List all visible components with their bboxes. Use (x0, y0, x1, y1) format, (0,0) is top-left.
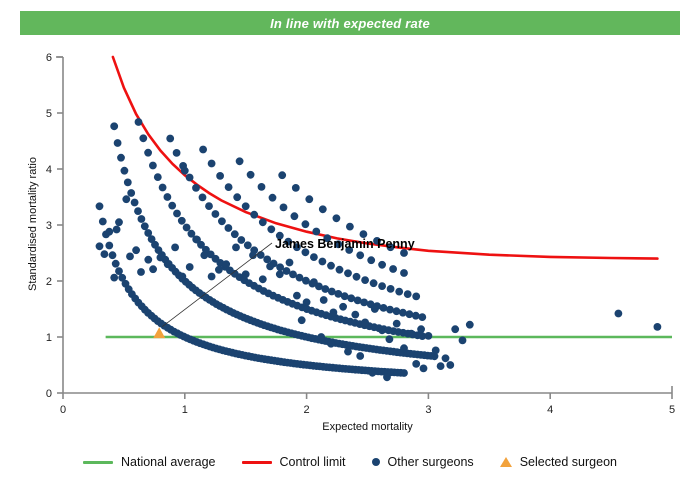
data-point (193, 236, 201, 244)
data-point (327, 340, 335, 348)
data-point (293, 292, 301, 300)
data-point (327, 262, 335, 270)
data-point (236, 157, 244, 165)
data-point (412, 312, 420, 320)
funnel-plot-chart: 0123456012345 Standardised mortality rat… (0, 0, 700, 500)
data-point (305, 195, 313, 203)
data-point (378, 261, 386, 269)
x-tick-label: 5 (669, 404, 675, 416)
data-point (200, 251, 208, 259)
data-point (212, 210, 220, 218)
data-point (181, 167, 189, 175)
legend-item-national-average[interactable]: National average (83, 455, 216, 469)
data-point (183, 224, 191, 232)
y-axis-title: Standardised mortality ratio (27, 134, 39, 314)
legend-item-selected-surgeon[interactable]: Selected surgeon (500, 455, 617, 469)
data-point (378, 326, 386, 334)
data-point (179, 273, 187, 281)
data-point (267, 225, 275, 233)
data-point (134, 207, 142, 215)
chart-page: In line with expected rate 0123456012345… (0, 0, 700, 500)
data-point (351, 311, 359, 319)
chart-legend: National averageControl limitOther surge… (0, 455, 700, 469)
data-point (386, 335, 394, 343)
data-point (166, 135, 174, 143)
legend-item-other-surgeons[interactable]: Other surgeons (372, 455, 474, 469)
data-point (378, 282, 386, 290)
data-point (121, 167, 129, 175)
data-point (233, 193, 241, 201)
data-point (380, 304, 388, 312)
data-point (361, 276, 369, 284)
legend-label: Other surgeons (388, 455, 474, 469)
data-point (418, 313, 426, 321)
data-point (216, 172, 224, 180)
data-point (446, 361, 454, 369)
data-point (269, 194, 277, 202)
orange-triangle-icon (500, 457, 512, 467)
data-point (399, 309, 407, 317)
data-point (164, 260, 172, 268)
data-point (131, 199, 139, 207)
data-point (231, 230, 239, 238)
data-point (383, 373, 391, 381)
data-point (371, 305, 379, 313)
data-point (105, 242, 113, 250)
data-point (199, 194, 207, 202)
data-point (117, 154, 125, 162)
data-point (459, 337, 467, 345)
data-point (266, 263, 274, 271)
data-point (330, 309, 338, 317)
x-tick-label: 4 (547, 404, 553, 416)
data-point (199, 146, 207, 154)
data-point (302, 220, 310, 228)
data-point (173, 149, 181, 157)
data-point (356, 251, 364, 259)
data-point (154, 173, 162, 181)
data-point (192, 184, 200, 192)
data-point (115, 267, 123, 275)
data-point (361, 319, 369, 327)
y-tick-label: 1 (46, 332, 52, 344)
data-point (164, 193, 172, 201)
data-point (186, 263, 194, 271)
data-point (171, 244, 179, 252)
data-point (109, 251, 117, 259)
data-point (412, 293, 420, 301)
data-point (96, 202, 104, 210)
data-point (387, 285, 395, 293)
legend-label: Selected surgeon (520, 455, 617, 469)
data-point (215, 266, 223, 274)
data-point (386, 306, 394, 314)
data-point (99, 218, 107, 226)
data-point (101, 250, 109, 258)
data-point (400, 269, 408, 277)
data-point (320, 296, 328, 304)
data-point (400, 344, 408, 352)
data-point (417, 325, 425, 333)
data-point (137, 268, 145, 276)
data-point (292, 184, 300, 192)
data-point (466, 321, 474, 329)
data-point (400, 369, 408, 377)
data-point (312, 228, 320, 236)
y-tick-label: 4 (46, 164, 52, 176)
data-point (168, 202, 176, 210)
data-point (247, 171, 255, 179)
data-point (356, 352, 364, 360)
data-point (333, 214, 341, 222)
data-point (432, 347, 440, 355)
data-point (404, 290, 412, 298)
data-point (369, 369, 377, 377)
data-point (258, 183, 266, 191)
data-point (389, 265, 397, 273)
data-point (218, 217, 226, 225)
data-point (278, 171, 286, 179)
y-tick-label: 2 (46, 276, 52, 288)
selected-surgeon-annotation: James Benjamin Penny (275, 237, 415, 251)
data-point (112, 260, 120, 268)
data-point (114, 139, 122, 147)
y-tick-label: 0 (46, 388, 52, 400)
data-point (259, 275, 267, 283)
data-point (344, 269, 352, 277)
data-point (173, 210, 181, 218)
data-point (110, 122, 118, 130)
data-point (124, 179, 132, 187)
data-point (280, 204, 288, 212)
red-line-icon (242, 461, 272, 464)
y-tick-label: 6 (46, 52, 52, 64)
data-point (242, 270, 250, 278)
green-line-icon (83, 461, 113, 464)
data-point (407, 330, 415, 338)
data-point (159, 184, 167, 192)
data-point (291, 212, 299, 220)
x-tick-label: 3 (425, 404, 431, 416)
legend-item-control-limit[interactable]: Control limit (242, 455, 346, 469)
data-point (132, 246, 140, 254)
data-point (317, 333, 325, 341)
data-point (310, 278, 318, 286)
data-point (242, 202, 250, 210)
data-point (250, 211, 258, 219)
data-point (105, 228, 113, 236)
legend-label: National average (121, 455, 216, 469)
data-point (225, 183, 233, 191)
data-point (127, 189, 135, 197)
data-point (115, 218, 123, 226)
data-point (144, 256, 152, 264)
data-point (232, 244, 240, 252)
data-point (420, 365, 428, 373)
data-point (336, 266, 344, 274)
data-point (319, 258, 327, 266)
data-point (263, 256, 271, 264)
y-tick-label: 3 (46, 220, 52, 232)
data-point (442, 354, 450, 362)
data-point (149, 265, 157, 273)
data-point (205, 202, 213, 210)
data-point (110, 274, 118, 282)
data-point (126, 253, 134, 261)
data-point (425, 332, 433, 340)
series-layer (96, 57, 672, 381)
data-point (259, 218, 267, 226)
data-point (222, 260, 230, 268)
data-point (437, 362, 445, 370)
data-point (319, 205, 327, 213)
data-point (395, 288, 403, 296)
data-point (615, 310, 623, 318)
data-point (208, 273, 216, 281)
data-point (654, 323, 662, 331)
data-point (141, 222, 149, 230)
data-point (303, 298, 311, 306)
data-point (113, 226, 121, 234)
data-point (178, 217, 186, 225)
data-point (370, 279, 378, 287)
data-point (367, 256, 375, 264)
data-point (157, 254, 165, 262)
control-limit-curve (113, 57, 658, 259)
x-tick-label: 0 (60, 404, 66, 416)
data-point (257, 251, 265, 259)
data-point (138, 215, 146, 223)
x-axis-title: Expected mortality (0, 421, 700, 433)
data-point (412, 360, 420, 368)
x-tick-label: 2 (304, 404, 310, 416)
data-point (244, 241, 252, 249)
x-tick-label: 1 (182, 404, 188, 416)
legend-label: Control limit (280, 455, 346, 469)
data-point (346, 223, 354, 231)
data-point (208, 160, 216, 168)
data-point (186, 174, 194, 182)
data-point (237, 236, 245, 244)
data-point (149, 162, 157, 170)
data-point (225, 224, 233, 232)
data-point (276, 270, 284, 278)
data-point (144, 149, 152, 157)
data-point (139, 134, 147, 142)
data-point (96, 242, 104, 250)
data-point (451, 325, 459, 333)
data-point (344, 348, 352, 356)
data-point (286, 259, 294, 267)
navy-dot-icon (372, 458, 380, 466)
data-point (339, 303, 347, 311)
data-point (122, 195, 130, 203)
data-point (353, 273, 361, 281)
data-point (135, 118, 143, 126)
data-point (310, 253, 318, 261)
y-tick-label: 5 (46, 108, 52, 120)
data-point (298, 316, 306, 324)
data-point (393, 320, 401, 328)
